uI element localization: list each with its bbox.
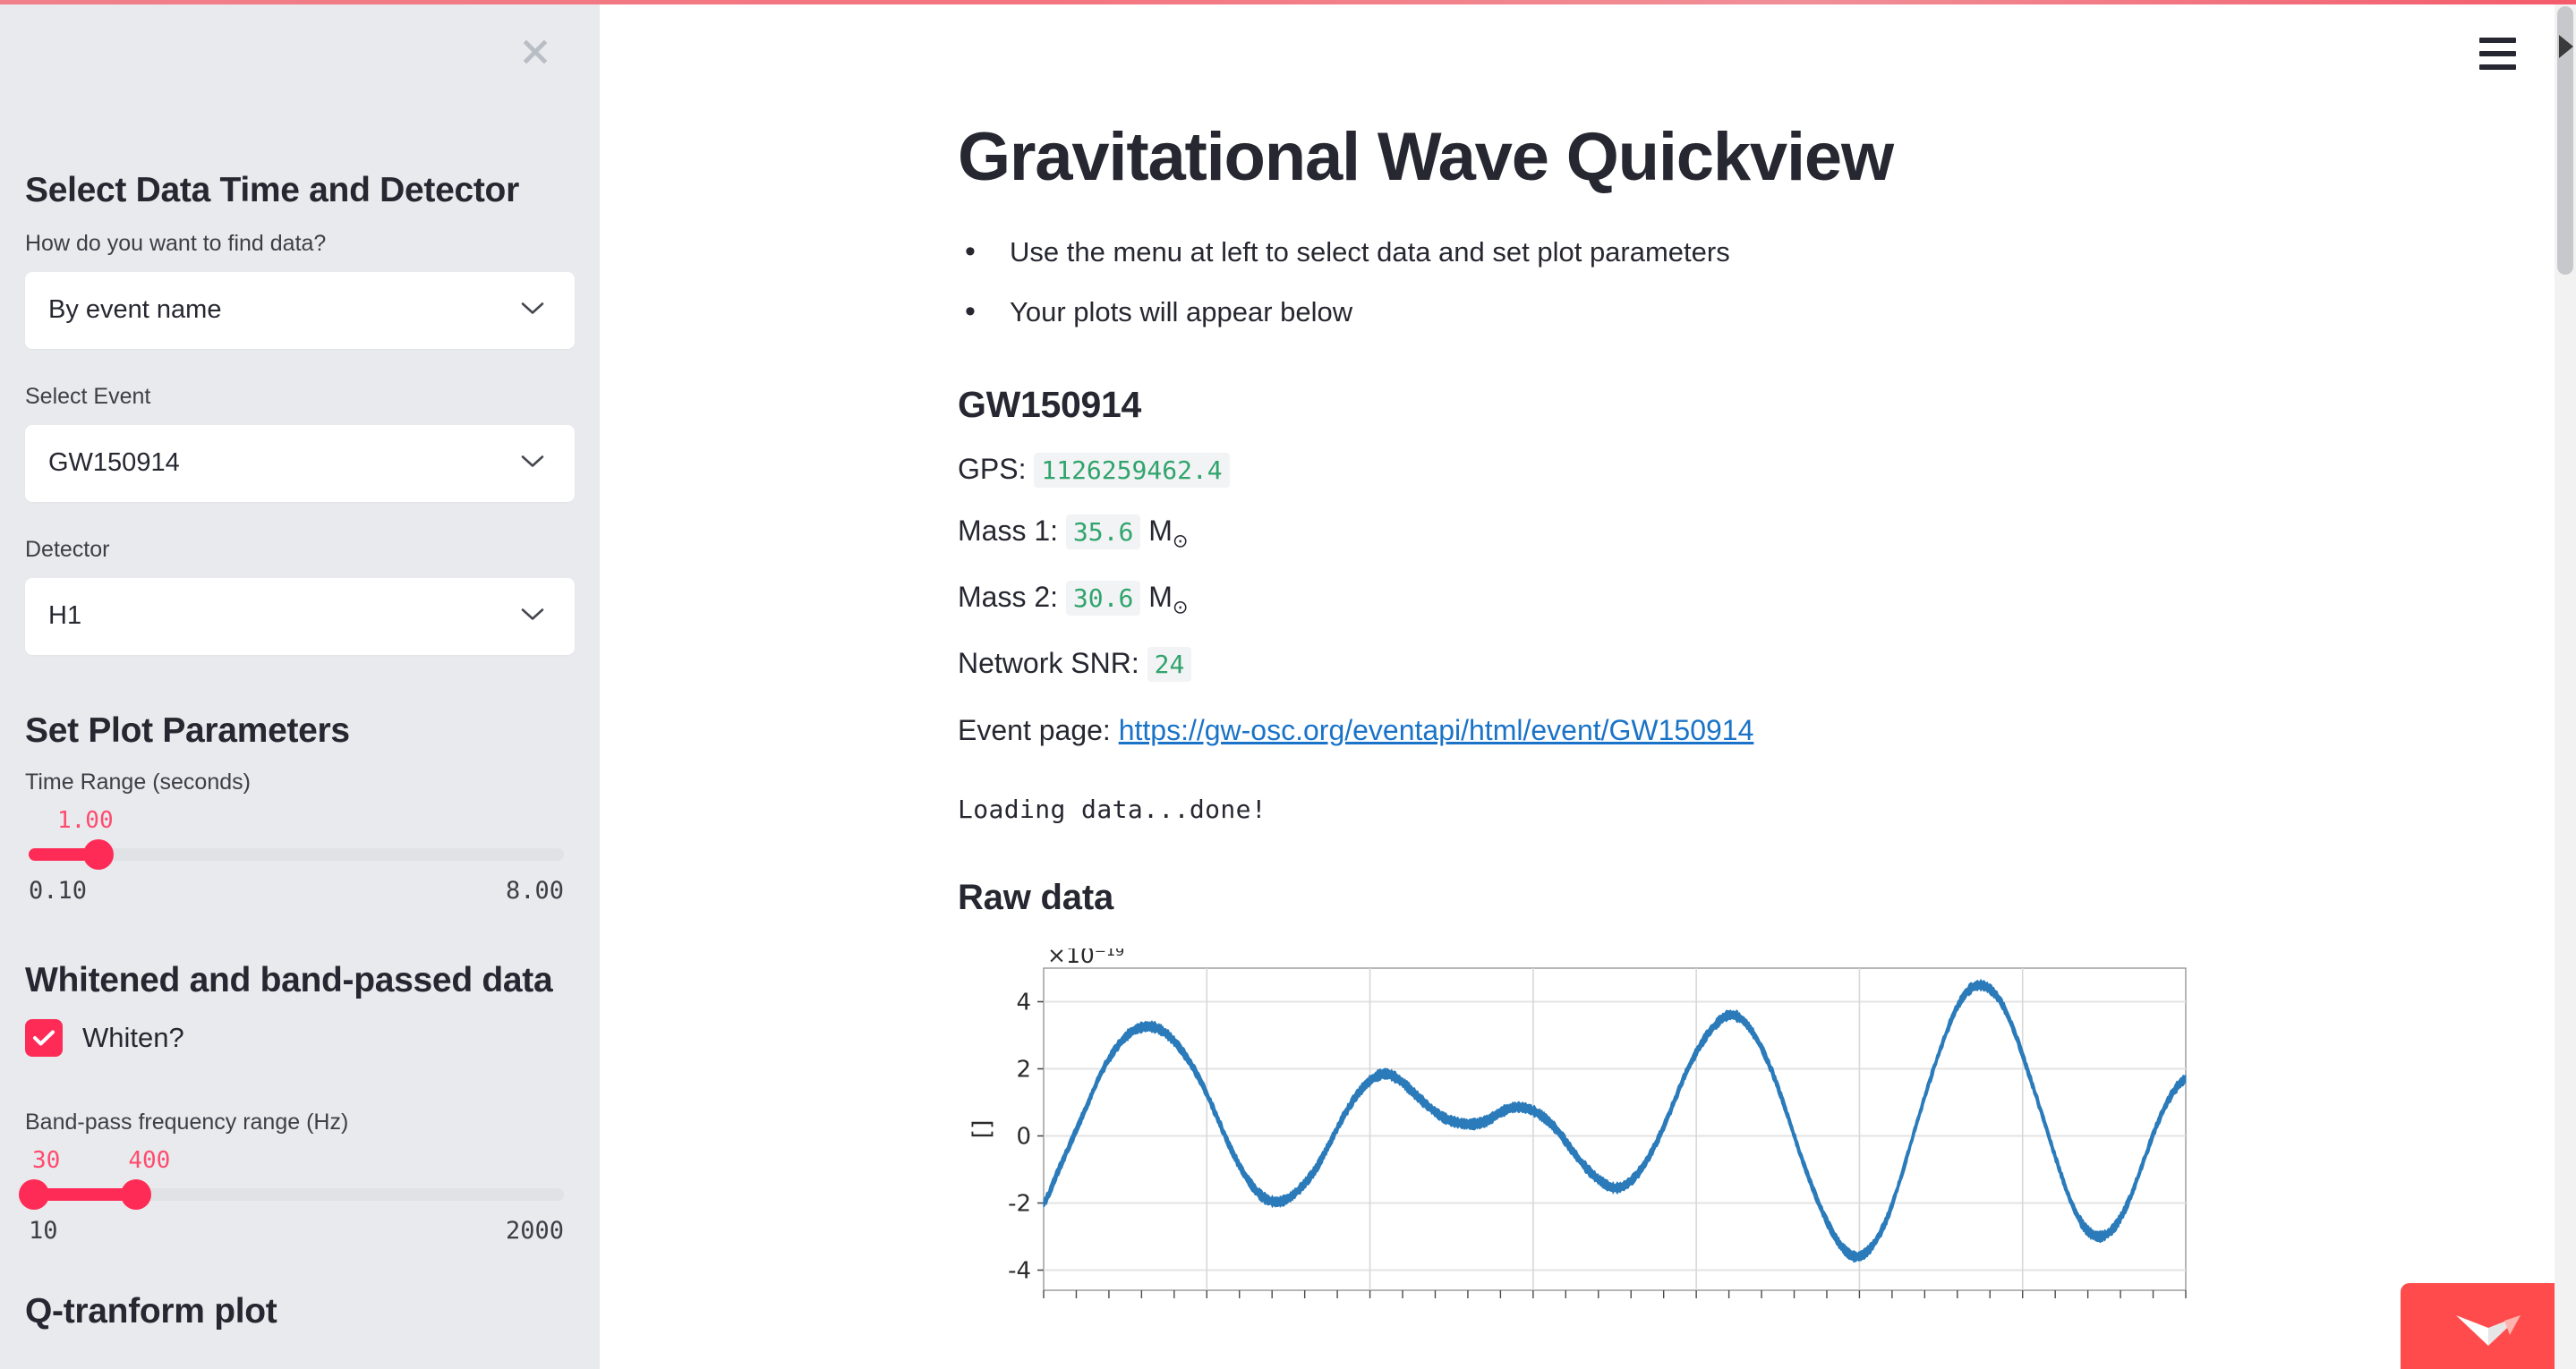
field-label: Mass 1: (958, 514, 1058, 547)
sidebar-section-title-data: Select Data Time and Detector (25, 170, 575, 212)
field-value: 35.6 (1066, 514, 1140, 549)
main-content: Gravitational Wave Quickview Use the men… (600, 0, 2576, 1369)
raw-data-chart-svg: -4-2024×10⁻¹⁹[] (958, 948, 2193, 1324)
page-title: Gravitational Wave Quickview (958, 122, 2576, 193)
chevron-down-icon (521, 301, 544, 319)
time-range-slider[interactable]: 1.00 0.10 8.00 (25, 802, 575, 905)
content-column: Gravitational Wave Quickview Use the men… (600, 0, 2576, 1324)
hamburger-bar (2479, 38, 2516, 43)
list-item: Use the menu at left to select data and … (958, 233, 2576, 271)
time-range-bounds: 0.10 8.00 (29, 877, 564, 905)
field-unit: M⊙ (1148, 581, 1188, 613)
close-icon (520, 37, 550, 67)
svg-text:-4: -4 (1008, 1257, 1031, 1284)
bandpass-high-knob[interactable] (121, 1179, 151, 1210)
bandpass-low-knob[interactable] (19, 1179, 49, 1210)
whiten-checkbox-row[interactable]: Whiten? (25, 1019, 575, 1057)
chevron-down-icon (521, 607, 544, 625)
sidebar-section-title-whiten: Whitened and band-passed data (25, 960, 575, 1002)
hamburger-bar (2479, 64, 2516, 70)
field-network-snr: Network SNR: 24 (958, 645, 2576, 683)
cursor-arrow-icon (2559, 35, 2573, 58)
whiten-checkbox[interactable] (25, 1019, 63, 1057)
select-event-value: GW150914 (48, 448, 180, 478)
hamburger-bar (2479, 51, 2516, 56)
field-label: Mass 2: (958, 581, 1058, 613)
svg-text:2: 2 (1016, 1056, 1031, 1083)
svg-text:4: 4 (1016, 989, 1031, 1016)
event-page-label: Event page: (958, 714, 1111, 746)
streamlit-badge[interactable] (2401, 1283, 2576, 1369)
find-data-value: By event name (48, 295, 221, 325)
svg-text:-2: -2 (1008, 1190, 1031, 1217)
bandpass-track[interactable] (29, 1188, 564, 1201)
bandpass-label: Band-pass frequency range (Hz) (25, 1107, 575, 1138)
bandpass-min: 10 (29, 1217, 58, 1245)
bandpass-slider[interactable]: 30400 10 2000 (25, 1142, 575, 1245)
sidebar-section-title-qtransform: Q-tranform plot (25, 1291, 575, 1333)
field-value: 24 (1147, 647, 1192, 682)
hamburger-menu-icon[interactable] (2479, 27, 2533, 81)
paper-boat-icon (2451, 1299, 2526, 1353)
sidebar-section-title-plot: Set Plot Parameters (25, 710, 575, 753)
field-value: 1126259462.4 (1034, 453, 1229, 488)
bandpass-low-value: 30 (32, 1147, 60, 1174)
field-label: Network SNR: (958, 647, 1139, 679)
svg-text:×10⁻¹⁹: ×10⁻¹⁹ (1047, 948, 1124, 968)
select-event-label: Select Event (25, 381, 575, 412)
raw-data-chart: -4-2024×10⁻¹⁹[] (958, 948, 2193, 1324)
event-heading: GW150914 (958, 384, 2576, 426)
intro-bullet-list: Use the menu at left to select data and … (958, 233, 2576, 332)
time-range-max: 8.00 (506, 877, 564, 905)
find-data-select[interactable]: By event name (25, 272, 575, 349)
chevron-down-icon (521, 454, 544, 472)
event-page-link[interactable]: https://gw-osc.org/eventapi/html/event/G… (1119, 714, 1754, 746)
field-gps: GPS: 1126259462.4 (958, 451, 2576, 489)
field-value: 30.6 (1066, 581, 1140, 616)
svg-text:[]: [] (968, 1119, 996, 1138)
sidebar: Select Data Time and Detector How do you… (0, 0, 600, 1369)
svg-text:0: 0 (1016, 1123, 1031, 1150)
field-mass2: Mass 2: 30.6 M⊙ (958, 579, 2576, 620)
detector-dropdown[interactable]: H1 (25, 578, 575, 655)
time-range-track[interactable] (29, 848, 564, 861)
time-range-label: Time Range (seconds) (25, 767, 575, 798)
field-unit: M⊙ (1148, 514, 1188, 547)
loading-status-text: Loading data...done! (958, 795, 2576, 824)
list-item: Your plots will appear below (958, 293, 2576, 331)
vertical-scrollbar[interactable] (2555, 4, 2576, 1369)
app-root: Select Data Time and Detector How do you… (0, 0, 2576, 1369)
bandpass-current-values: 30400 (32, 1147, 170, 1174)
field-mass1: Mass 1: 35.6 M⊙ (958, 513, 2576, 554)
select-event-dropdown[interactable]: GW150914 (25, 425, 575, 502)
time-range-min: 0.10 (29, 877, 87, 905)
loading-progress-bar (0, 0, 2576, 4)
bandpass-bounds: 10 2000 (29, 1217, 564, 1245)
plot-section-title: Raw data (958, 878, 2576, 918)
bandpass-high-value: 400 (128, 1147, 170, 1174)
detector-value: H1 (48, 601, 81, 631)
bandpass-max: 2000 (506, 1217, 564, 1245)
detector-label: Detector (25, 534, 575, 565)
time-range-knob[interactable] (83, 839, 114, 870)
field-label: GPS: (958, 453, 1026, 485)
find-data-label: How do you want to find data? (25, 228, 575, 259)
checkmark-icon (32, 1029, 55, 1047)
whiten-label: Whiten? (82, 1022, 184, 1054)
sidebar-close-button[interactable] (512, 29, 559, 75)
event-page-row: Event page: https://gw-osc.org/eventapi/… (958, 712, 2576, 750)
time-range-current-value: 1.00 (57, 807, 114, 834)
